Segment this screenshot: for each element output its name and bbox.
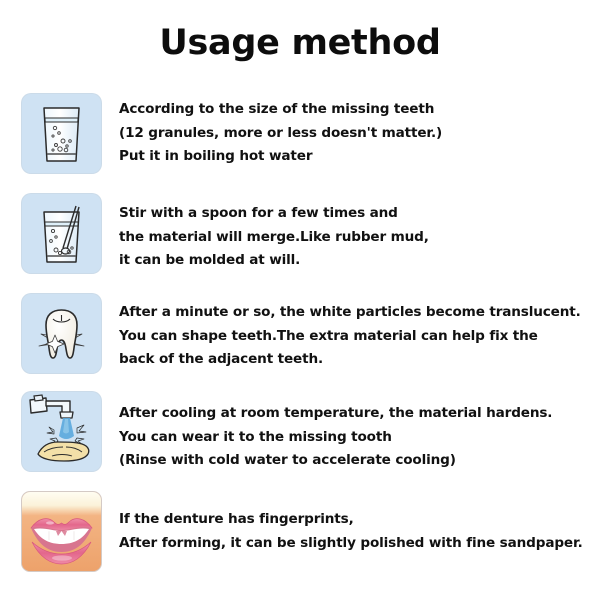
glass-of-water-icon <box>22 94 101 173</box>
shiny-tooth-icon <box>22 294 101 373</box>
glass-with-spoon-icon <box>22 194 101 273</box>
step-text: After a minute or so, the white particle… <box>119 301 589 372</box>
step-text: If the denture has fingerprints, After f… <box>119 508 589 555</box>
step-text: After cooling at room temperature, the m… <box>119 402 589 473</box>
step-text: According to the size of the missing tee… <box>119 98 589 169</box>
faucet-hands-icon <box>22 392 101 471</box>
page-title: Usage method <box>0 22 600 64</box>
smiling-mouth-icon <box>22 492 101 571</box>
step-text: Stir with a spoon for a few times and th… <box>119 202 589 273</box>
